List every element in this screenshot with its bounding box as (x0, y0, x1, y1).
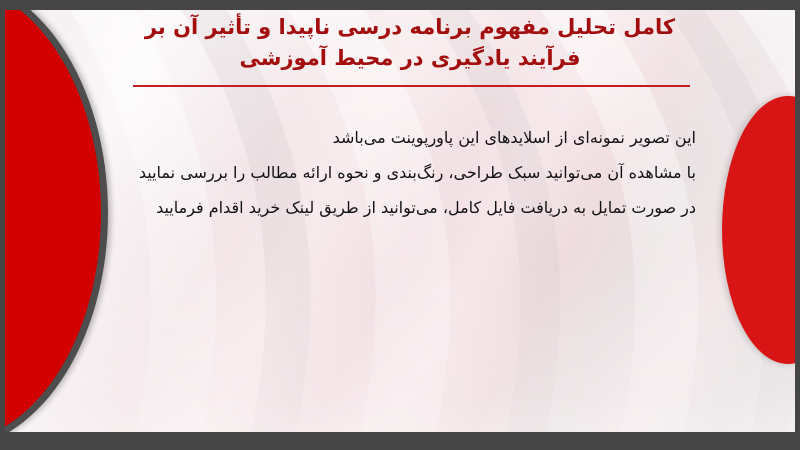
slide-frame-left (0, 0, 5, 450)
slide-body-line-3: در صورت تمایل به دریافت فایل کامل، می‌تو… (126, 190, 696, 225)
slide-title: کامل تحلیل مفهوم برنامه درسی ناپیدا و تأ… (120, 12, 700, 74)
slide-title-line-2: فرآیند یادگیری در محیط آموزشی (120, 43, 700, 74)
slide-body-line-2: با مشاهده آن می‌توانید سبک طراحی، رنگ‌بن… (126, 155, 696, 190)
slide-body-text: این تصویر نمونه‌ای از اسلایدهای این پاور… (126, 120, 696, 225)
slide-body-line-1: این تصویر نمونه‌ای از اسلایدهای این پاور… (126, 120, 696, 155)
slide-frame-bottom (0, 432, 800, 450)
slide-frame-top (0, 0, 800, 10)
slide-title-line-1: کامل تحلیل مفهوم برنامه درسی ناپیدا و تأ… (120, 12, 700, 43)
slide-frame-right (795, 0, 800, 450)
presentation-slide: کامل تحلیل مفهوم برنامه درسی ناپیدا و تأ… (0, 0, 800, 450)
slide-title-underline (133, 85, 690, 87)
